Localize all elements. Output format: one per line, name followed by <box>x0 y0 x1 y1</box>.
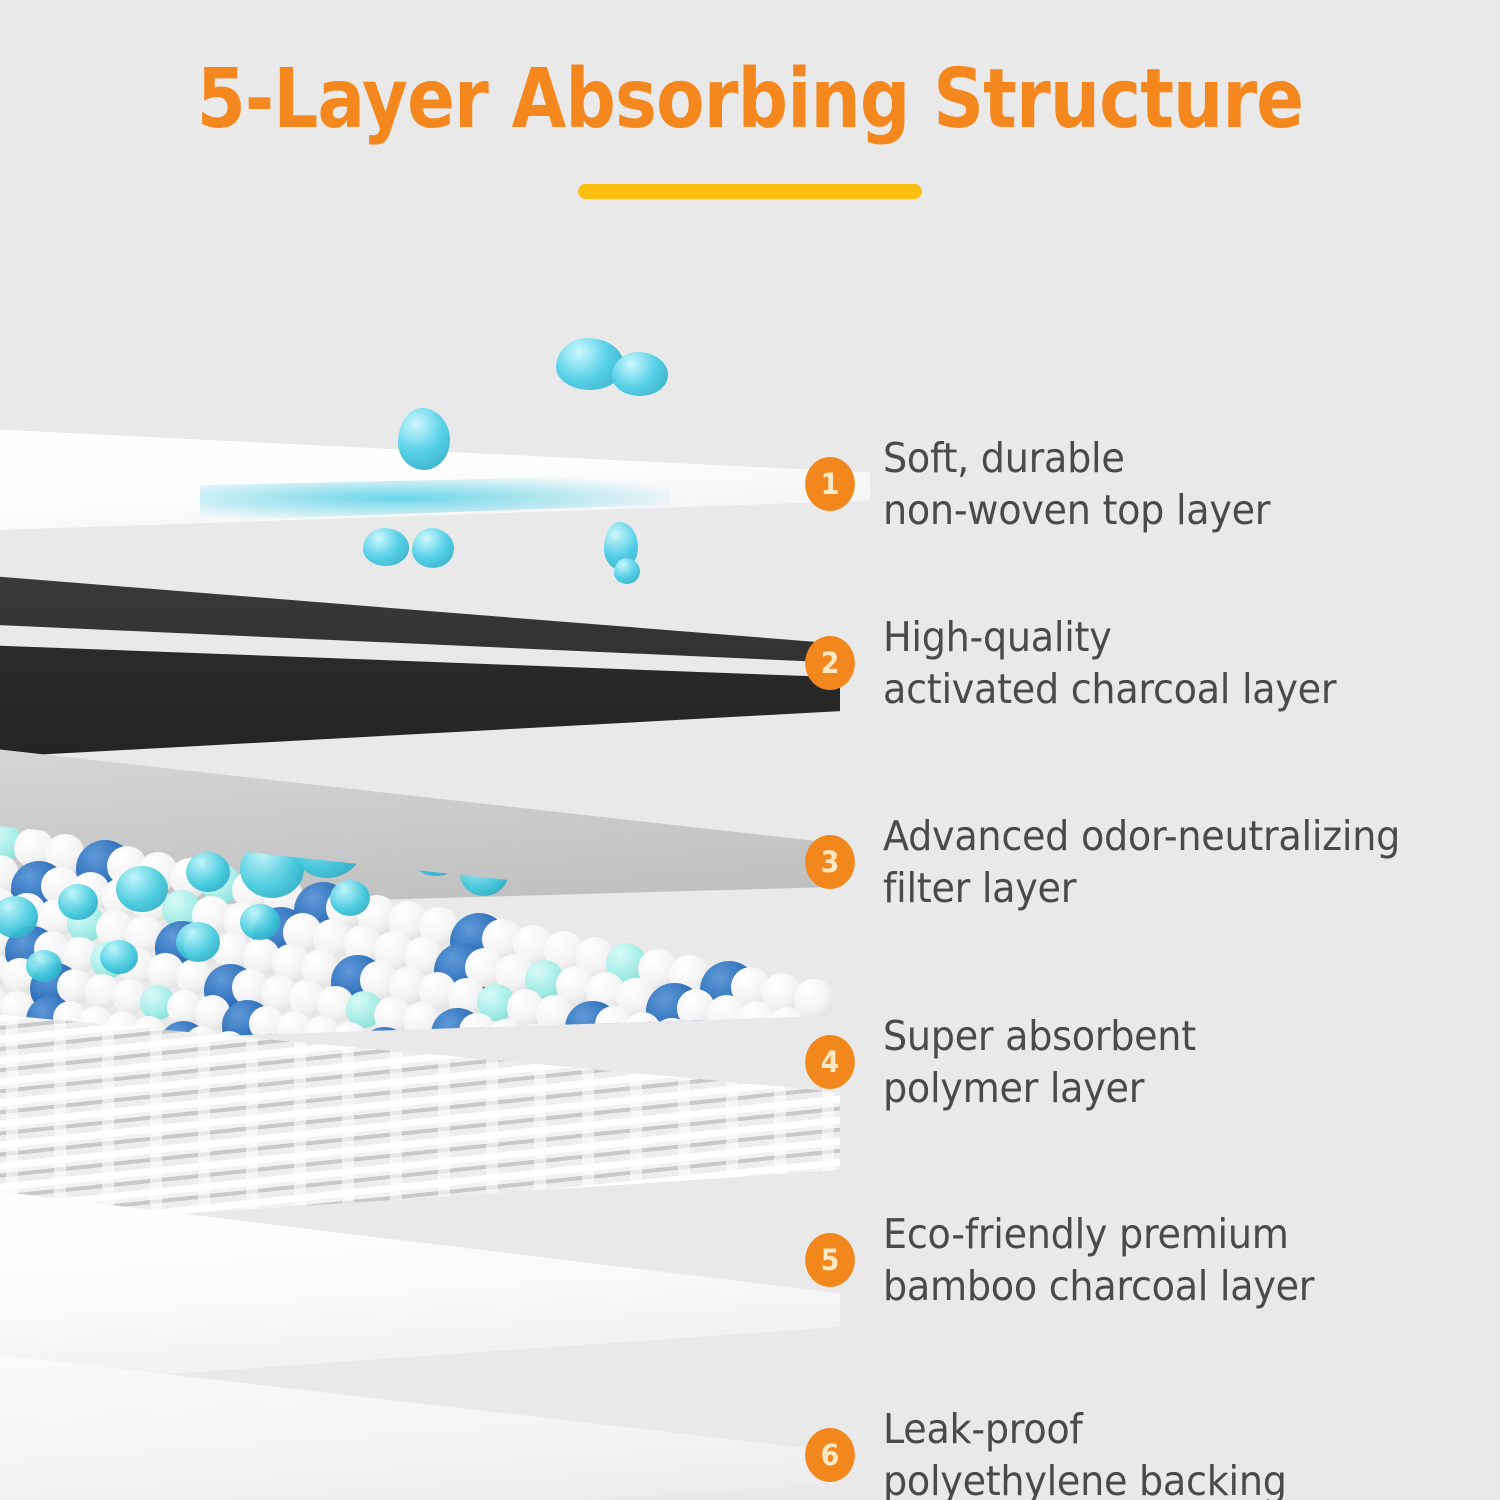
callout-label-1: Soft, durable non-woven top layer <box>883 432 1270 537</box>
polymer-bead <box>601 1041 654 1045</box>
callout-badge-5: 5 <box>805 1233 855 1287</box>
polymer-bead <box>595 1006 633 1044</box>
gel-droplet <box>26 950 62 982</box>
water-droplet <box>412 528 454 568</box>
callout-label-4: Super absorbent polymer layer <box>883 1010 1196 1115</box>
polymer-bead <box>737 1001 776 1040</box>
polymer-bead <box>573 1035 609 1045</box>
layer-super-absorbent-polymer-highlight <box>0 1000 840 1230</box>
callout-label-6: Leak-proof polyethylene backing <box>883 1403 1287 1500</box>
water-droplet <box>363 528 409 566</box>
infographic-page: 5-Layer Absorbing Structure 1 Soft, dura… <box>0 0 1500 1500</box>
callout-label-5: Eco-friendly premium bamboo charcoal lay… <box>883 1208 1314 1313</box>
callout-1: 1 Soft, durable non-woven top layer <box>803 432 1299 537</box>
polymer-bead <box>516 1024 552 1045</box>
callout-5: 5 Eco-friendly premium bamboo charcoal l… <box>803 1208 1347 1313</box>
polymer-bead <box>414 1038 449 1045</box>
callout-4: 4 Super absorbent polymer layer <box>803 1010 1219 1115</box>
polymer-bead <box>683 1023 721 1045</box>
callout-2: 2 High-quality activated charcoal layer <box>803 611 1370 716</box>
polymer-bead <box>712 1029 767 1045</box>
gel-droplet <box>176 922 220 962</box>
callout-badge-3: 3 <box>805 835 855 889</box>
water-droplet <box>614 558 640 584</box>
gel-droplet <box>116 866 168 912</box>
gel-droplet <box>186 852 230 892</box>
polymer-bead <box>387 1032 422 1045</box>
polymer-bead <box>624 1012 662 1045</box>
polymer-bead <box>459 1013 495 1045</box>
water-droplet <box>612 352 668 396</box>
callout-6: 6 Leak-proof polyethylene backing <box>803 1403 1317 1500</box>
callout-3: 3 Advanced odor-neutralizing filter laye… <box>803 810 1439 915</box>
callout-badge-2: 2 <box>805 636 855 690</box>
gel-droplet <box>58 884 98 920</box>
gel-droplet <box>100 940 138 974</box>
layer-bamboo-charcoal <box>0 1180 840 1390</box>
callout-label-2: High-quality activated charcoal layer <box>883 611 1336 716</box>
layer-illustration <box>0 300 880 1500</box>
water-droplet <box>398 408 450 470</box>
polymer-bead <box>545 1030 581 1045</box>
polymer-bead <box>442 1043 477 1045</box>
gel-droplet <box>330 880 370 916</box>
callout-badge-6: 6 <box>805 1428 855 1482</box>
callout-label-3: Advanced odor-neutralizing filter layer <box>883 810 1400 915</box>
polymer-bead <box>767 1007 806 1045</box>
polymer-bead <box>653 1018 691 1045</box>
gel-droplet <box>240 904 280 940</box>
callout-badge-4: 4 <box>805 1035 855 1089</box>
page-title: 5-Layer Absorbing Structure <box>105 52 1395 147</box>
title-underline-rule <box>578 184 922 199</box>
polymer-bead <box>741 1035 779 1045</box>
callout-badge-1: 1 <box>805 457 855 511</box>
